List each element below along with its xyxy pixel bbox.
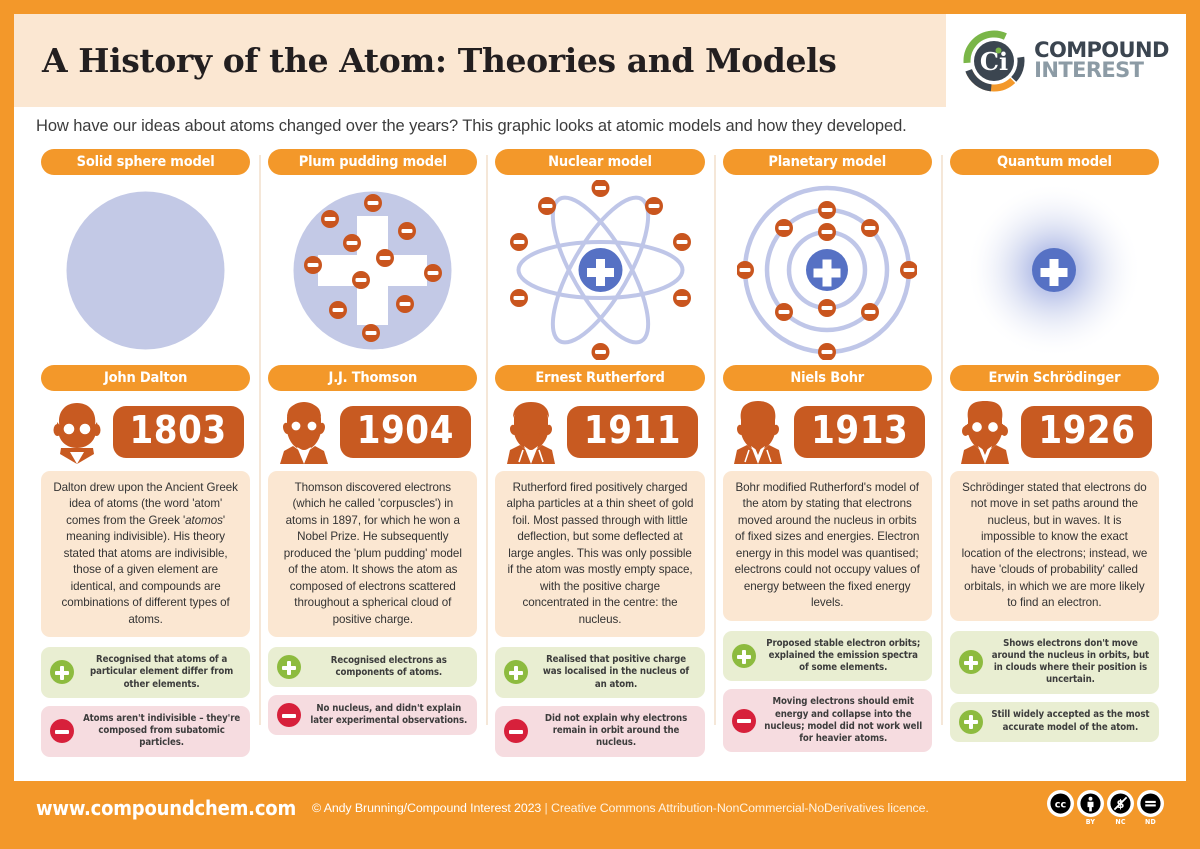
notes-list: Shows electrons don't move around the nu… — [950, 631, 1159, 742]
plus-icon — [732, 644, 756, 668]
note-pro: Proposed stable electron orbits; explain… — [723, 631, 932, 682]
scientist-row: 1913 — [723, 393, 932, 471]
model-description: Dalton drew upon the Ancient Greek idea … — [41, 471, 250, 637]
quantum-illustration — [950, 175, 1159, 365]
model-name-badge: Planetary model — [723, 149, 932, 175]
scientist-row: 1904 — [268, 393, 477, 471]
scientist-name-badge: J.J. Thomson — [268, 365, 477, 391]
subtitle-row: How have our ideas about atoms changed o… — [14, 107, 1186, 145]
credit-line: © Andy Brunning/Compound Interest 2023 |… — [312, 801, 1031, 815]
logo-line-2: INTEREST — [1034, 61, 1169, 81]
note-text: Recognised electrons as components of at… — [309, 655, 468, 680]
note-pro: Realised that positive charge was locali… — [495, 647, 704, 698]
model-name-badge: Nuclear model — [495, 149, 704, 175]
note-text: Did not explain why electrons remain in … — [536, 713, 695, 750]
logo-wordmark: COMPOUND INTEREST — [1034, 41, 1169, 81]
plus-icon — [959, 710, 983, 734]
note-con: Did not explain why electrons remain in … — [495, 706, 704, 757]
cc-badge-label: ND — [1145, 818, 1156, 826]
copyright-text: © Andy Brunning/Compound Interest 2023 — [312, 801, 541, 815]
note-text: Proposed stable electron orbits; explain… — [764, 638, 923, 675]
notes-list: Recognised that atoms of a particular el… — [41, 647, 250, 757]
cc-nc-icon: $ — [1107, 790, 1134, 817]
cc-badge-item: cc — [1047, 790, 1074, 818]
model-description: Schrödinger stated that electrons do not… — [950, 471, 1159, 621]
website-url[interactable]: www.compoundchem.com — [36, 796, 296, 820]
year-badge: 1803 — [113, 406, 244, 458]
model-column-planetary: Planetary model — [714, 147, 941, 781]
model-column-plum-pudding: Plum pudding model — [259, 147, 486, 781]
model-description: Thomson discovered electrons (which he c… — [268, 471, 477, 637]
infographic-poster: A History of the Atom: Theories and Mode… — [0, 0, 1200, 849]
plum-pudding-illustration — [268, 175, 477, 365]
plus-icon — [504, 660, 528, 684]
note-con: Moving electrons should emit energy and … — [723, 689, 932, 752]
thomson-portrait-icon — [275, 400, 333, 464]
cc-icon: cc — [1047, 790, 1074, 817]
plus-icon — [277, 655, 301, 679]
minus-icon — [50, 719, 74, 743]
brand-logo: Ci COMPOUND INTEREST — [946, 14, 1186, 107]
planetary-illustration — [723, 175, 932, 365]
plus-icon — [50, 660, 74, 684]
scientist-name-badge: John Dalton — [41, 365, 250, 391]
note-text: Moving electrons should emit energy and … — [764, 696, 923, 745]
cc-by-icon — [1077, 790, 1104, 817]
cc-badge-label: BY — [1086, 818, 1095, 826]
nuclear-illustration — [495, 175, 704, 365]
model-column-nuclear: Nuclear model — [486, 147, 713, 781]
rutherford-portrait-icon — [502, 400, 560, 464]
dalton-portrait-icon — [48, 400, 106, 464]
credit-separator: | — [545, 801, 548, 815]
model-column-quantum: Quantum model — [941, 147, 1168, 781]
poster-header: A History of the Atom: Theories and Mode… — [14, 14, 1186, 107]
poster-footer: www.compoundchem.com © Andy Brunning/Com… — [14, 781, 1186, 835]
svg-text:cc: cc — [1055, 799, 1067, 810]
notes-list: Proposed stable electron orbits; explain… — [723, 631, 932, 753]
licence-text: Creative Commons Attribution-NonCommerci… — [551, 801, 929, 815]
scientist-name-badge: Ernest Rutherford — [495, 365, 704, 391]
model-name-badge: Plum pudding model — [268, 149, 477, 175]
note-pro: Recognised electrons as components of at… — [268, 647, 477, 687]
scientist-row: 1803 — [41, 393, 250, 471]
note-text: Recognised that atoms of a particular el… — [82, 654, 241, 691]
bohr-portrait-icon — [729, 400, 787, 464]
cc-badge-item: $ NC — [1107, 790, 1134, 826]
scientist-row: 1911 — [495, 393, 704, 471]
scientist-row: 1926 — [950, 393, 1159, 471]
model-name-badge: Solid sphere model — [41, 149, 250, 175]
model-description: Rutherford fired positively charged alph… — [495, 471, 704, 637]
scientist-name-badge: Erwin Schrödinger — [950, 365, 1159, 391]
note-pro: Still widely accepted as the most accura… — [950, 702, 1159, 742]
italic-term: atomos — [185, 514, 223, 527]
subtitle: How have our ideas about atoms changed o… — [36, 117, 907, 136]
title-band: A History of the Atom: Theories and Mode… — [14, 14, 946, 107]
cc-badge-label: NC — [1115, 818, 1125, 826]
year-badge: 1911 — [567, 406, 698, 458]
solid-sphere-illustration — [41, 175, 250, 365]
minus-icon — [277, 703, 301, 727]
notes-list: Recognised electrons as components of at… — [268, 647, 477, 735]
notes-list: Realised that positive charge was locali… — [495, 647, 704, 757]
cc-badge-item: BY — [1077, 790, 1104, 826]
model-name-badge: Quantum model — [950, 149, 1159, 175]
year-badge: 1913 — [794, 406, 925, 458]
schrodinger-portrait-icon — [956, 400, 1014, 464]
scientist-name-badge: Niels Bohr — [723, 365, 932, 391]
note-con: Atoms aren't indivisible – they're compo… — [41, 706, 250, 757]
minus-icon — [504, 719, 528, 743]
year-badge: 1904 — [340, 406, 471, 458]
models-grid: Solid sphere model John Dalton — [14, 145, 1186, 781]
page-title: A History of the Atom: Theories and Mode… — [42, 41, 836, 80]
note-text: No nucleus, and didn't explain later exp… — [309, 703, 468, 728]
note-con: No nucleus, and didn't explain later exp… — [268, 695, 477, 735]
year-badge: 1926 — [1021, 406, 1152, 458]
model-description: Bohr modified Rutherford's model of the … — [723, 471, 932, 621]
plus-icon — [959, 650, 983, 674]
svg-text:Ci: Ci — [980, 47, 1008, 76]
cc-nd-icon — [1137, 790, 1164, 817]
note-text: Shows electrons don't move around the nu… — [991, 638, 1150, 687]
cc-badge-item: ND — [1137, 790, 1164, 826]
poster-sheet: A History of the Atom: Theories and Mode… — [12, 12, 1188, 837]
model-column-solid-sphere: Solid sphere model John Dalton — [32, 147, 259, 781]
note-text: Atoms aren't indivisible – they're compo… — [82, 713, 241, 750]
compound-interest-logo-icon: Ci — [963, 30, 1025, 92]
minus-icon — [732, 709, 756, 733]
note-pro: Shows electrons don't move around the nu… — [950, 631, 1159, 694]
note-text: Realised that positive charge was locali… — [536, 654, 695, 691]
creative-commons-badges: cc BY $ NC ND — [1047, 790, 1164, 826]
note-text: Still widely accepted as the most accura… — [991, 709, 1150, 734]
note-pro: Recognised that atoms of a particular el… — [41, 647, 250, 698]
